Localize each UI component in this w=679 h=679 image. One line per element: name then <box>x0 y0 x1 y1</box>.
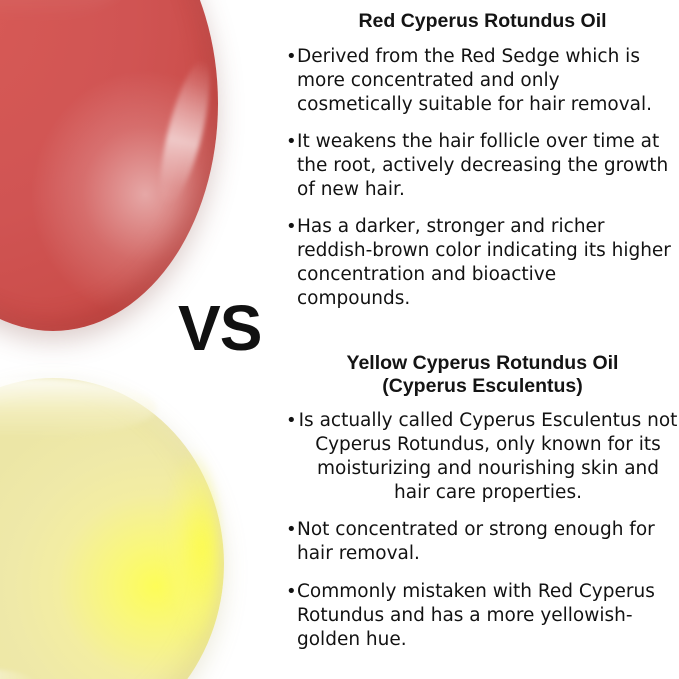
red-section-heading: Red Cyperus Rotundus Oil <box>286 10 679 33</box>
bullet-dot-icon: • <box>286 518 296 541</box>
yellow-droplet-cap-highlight <box>0 378 156 438</box>
yellow-droplet-rim-glow <box>164 452 218 642</box>
red-oil-section: Red Cyperus Rotundus Oil • Derived from … <box>286 10 679 324</box>
yellow-section-heading-subtitle: (Cyperus Esculentus) <box>286 375 679 398</box>
yellow-section-heading-main: Yellow Cyperus Rotundus Oil <box>347 352 619 374</box>
bullet-text: Derived from the Red Sedge which is more… <box>297 45 675 117</box>
red-droplet-highlight <box>150 56 219 210</box>
bullet-dot-icon: • <box>286 409 296 432</box>
list-item: • It weakens the hair follicle over time… <box>286 130 675 202</box>
yellow-bullet-list: • Is actually called Cyperus Esculentus … <box>286 409 679 651</box>
bullet-text: Not concentrated or strong enough for ha… <box>297 518 679 566</box>
comparison-text-column: Red Cyperus Rotundus Oil • Derived from … <box>286 0 679 679</box>
bullet-text: Is actually called Cyperus Esculentus no… <box>297 409 679 505</box>
bullet-dot-icon: • <box>286 130 296 153</box>
yellow-oil-droplet <box>0 378 224 679</box>
bullet-dot-icon: • <box>286 45 296 68</box>
list-item: • Commonly mistaken with Red Cyperus Rot… <box>286 580 679 652</box>
yellow-section-heading: Yellow Cyperus Rotundus Oil (Cyperus Esc… <box>286 352 679 397</box>
versus-label: VS <box>178 296 261 360</box>
list-item: • Derived from the Red Sedge which is mo… <box>286 45 675 117</box>
red-bullet-list: • Derived from the Red Sedge which is mo… <box>286 45 679 311</box>
comparison-infographic: VS Red Cyperus Rotundus Oil • Derived fr… <box>0 0 679 679</box>
bullet-dot-icon: • <box>286 215 296 238</box>
list-item: • Not concentrated or strong enough for … <box>286 518 679 566</box>
yellow-oil-section: Yellow Cyperus Rotundus Oil (Cyperus Esc… <box>286 352 679 665</box>
bullet-dot-icon: • <box>286 580 296 603</box>
bullet-text: It weakens the hair follicle over time a… <box>297 130 675 202</box>
bullet-text: Commonly mistaken with Red Cyperus Rotun… <box>297 580 679 652</box>
red-oil-droplet <box>0 0 218 331</box>
red-droplet-sheen <box>0 0 132 22</box>
list-item: • Is actually called Cyperus Esculentus … <box>286 409 679 505</box>
list-item: • Has a darker, stronger and richer redd… <box>286 215 675 311</box>
yellow-droplet-gloss-streak <box>0 668 39 679</box>
bullet-text: Has a darker, stronger and richer reddis… <box>297 215 675 311</box>
